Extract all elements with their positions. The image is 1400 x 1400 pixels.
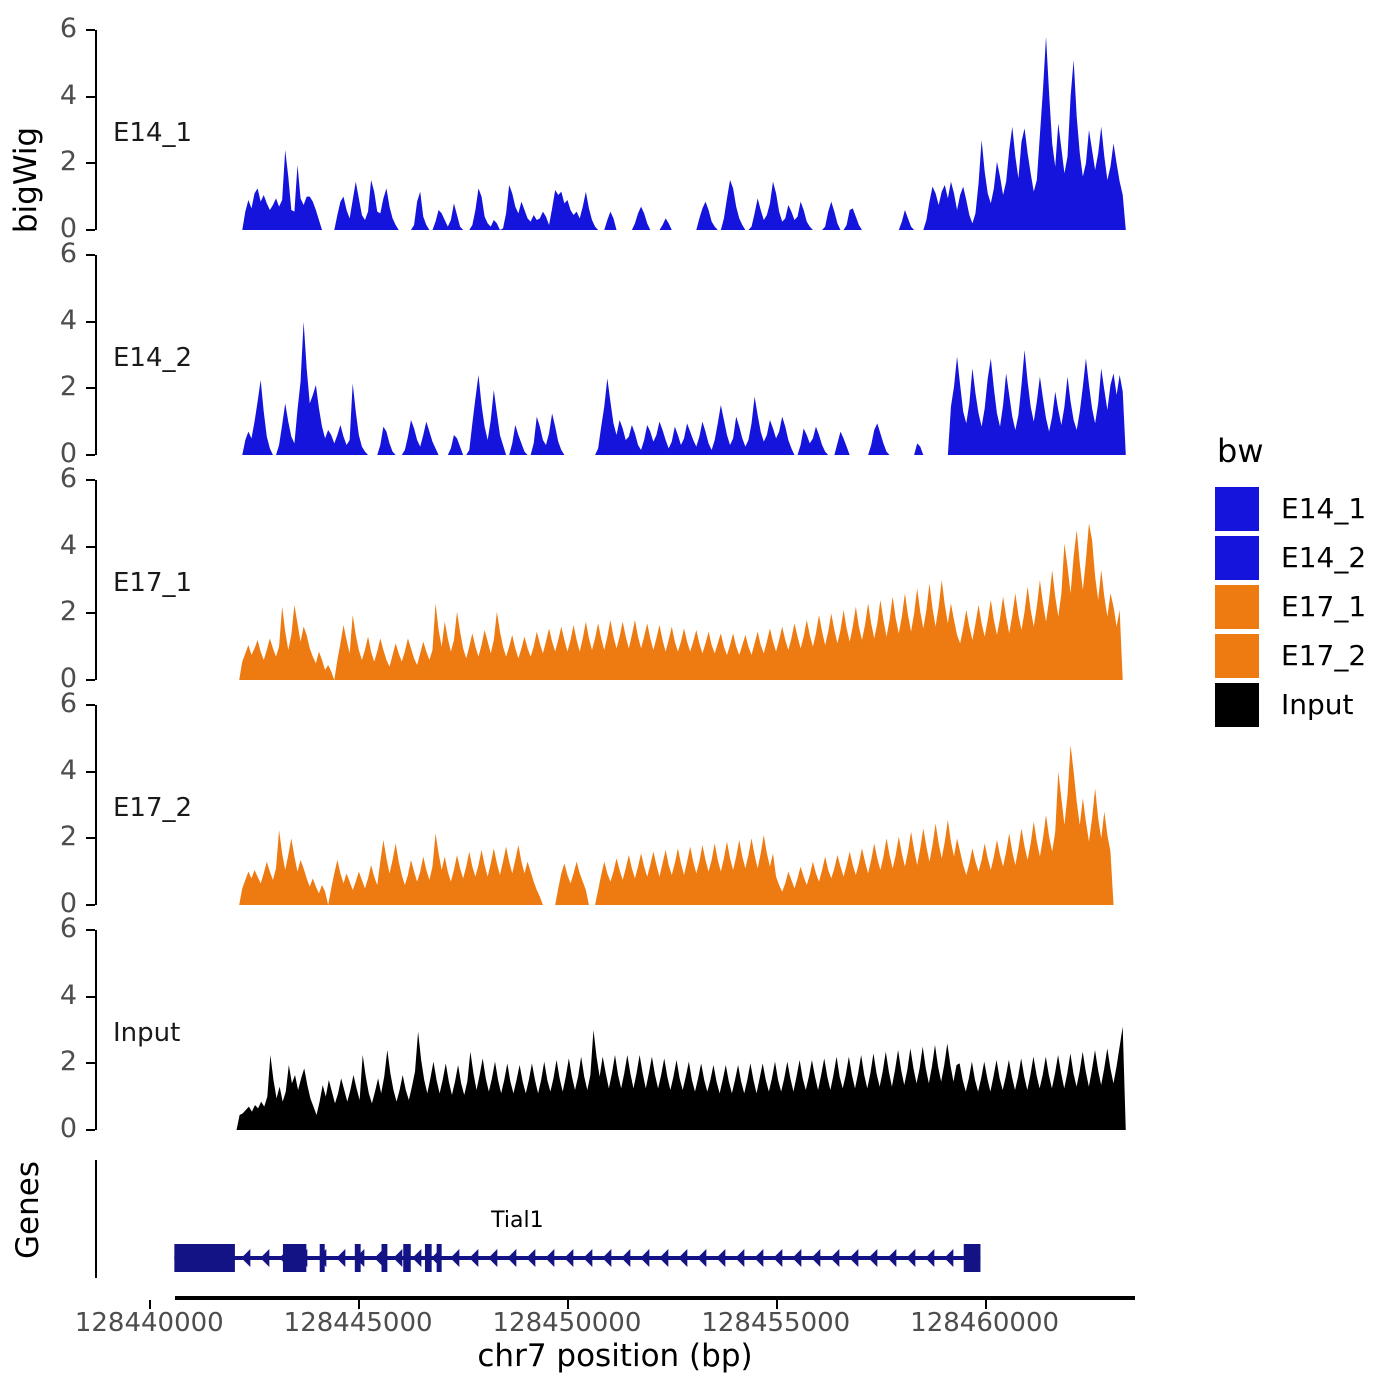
x-axis-tick-label: 128455000	[676, 1308, 876, 1338]
y-axis-tick	[86, 1129, 95, 1131]
y-axis-tick	[86, 704, 95, 706]
y-axis-tick-label: 4	[17, 757, 77, 784]
y-axis-tick-label: 6	[17, 240, 77, 267]
y-axis-line	[95, 480, 97, 680]
legend-key-label: E14_1	[1281, 492, 1366, 525]
y-axis-tick-label: 6	[17, 465, 77, 492]
y-axis-tick	[86, 771, 95, 773]
y-axis-tick-label: 2	[17, 1048, 77, 1075]
y-axis-tick-label: 2	[17, 373, 77, 400]
y-axis-tick	[86, 479, 95, 481]
coverage-area-input	[95, 930, 1135, 1130]
legend-key-swatch	[1215, 585, 1259, 629]
x-axis-tick-label: 128450000	[467, 1308, 667, 1338]
y-axis-tick-label: 4	[17, 532, 77, 559]
legend-key-label: E17_2	[1281, 639, 1366, 672]
coverage-area-e17_2	[95, 705, 1135, 905]
y-axis-tick-label: 2	[17, 148, 77, 175]
legend-key-swatch	[1215, 487, 1259, 531]
coverage-area-e14_2	[95, 255, 1135, 455]
y-axis-tick	[86, 904, 95, 906]
legend-key-label: Input	[1281, 688, 1354, 721]
track-label-e17_2: E17_2	[113, 793, 192, 823]
y-axis-tick-label: 4	[17, 82, 77, 109]
track-label-input: Input	[113, 1018, 180, 1048]
legend-item-input[interactable]: Input	[1215, 680, 1366, 729]
genes-axis-title: Genes	[10, 1130, 46, 1290]
coverage-area-e17_1	[95, 480, 1135, 680]
legend-item-e17_2[interactable]: E17_2	[1215, 631, 1366, 680]
legend-key-swatch	[1215, 536, 1259, 580]
y-axis-tick	[86, 929, 95, 931]
y-axis-tick-label: 6	[17, 915, 77, 942]
y-axis-tick-label: 0	[17, 1115, 77, 1142]
y-axis-tick	[86, 321, 95, 323]
track-panel-e14_2: 0246E14_2	[95, 255, 1135, 455]
track-label-e17_1: E17_1	[113, 568, 192, 598]
y-axis-tick	[86, 96, 95, 98]
y-axis-tick	[86, 837, 95, 839]
y-axis-tick	[86, 229, 95, 231]
y-axis-title: bigWig	[8, 30, 44, 330]
y-axis-tick-label: 2	[17, 823, 77, 850]
y-axis-tick-label: 6	[17, 15, 77, 42]
legend-item-e14_2[interactable]: E14_2	[1215, 533, 1366, 582]
legend-title: bw	[1217, 432, 1366, 470]
x-axis-line	[175, 1296, 1135, 1300]
track-label-e14_1: E14_1	[113, 118, 192, 148]
y-axis-tick-label: 4	[17, 307, 77, 334]
y-axis-tick-label: 4	[17, 982, 77, 1009]
y-axis-tick-label: 2	[17, 598, 77, 625]
y-axis-tick	[86, 546, 95, 548]
legend-key-swatch	[1215, 683, 1259, 727]
gene-annotation-panel: Tial1	[95, 1160, 1135, 1295]
legend-items: E14_1E14_2E17_1E17_2Input	[1215, 484, 1366, 729]
genome-browser-figure: bigWig Genes chr7 position (bp) 0246E14_…	[0, 0, 1400, 1400]
track-panel-input: 0246Input	[95, 930, 1135, 1130]
y-axis-line	[95, 255, 97, 455]
track-panel-e17_2: 0246E17_2	[95, 705, 1135, 905]
y-axis-tick	[86, 679, 95, 681]
y-axis-tick	[86, 387, 95, 389]
legend-key-swatch	[1215, 634, 1259, 678]
x-axis-tick-label: 128445000	[258, 1308, 458, 1338]
y-axis-tick	[86, 162, 95, 164]
legend-key-label: E14_2	[1281, 541, 1366, 574]
track-panel-e17_1: 0246E17_1	[95, 480, 1135, 680]
y-axis-line	[95, 705, 97, 905]
legend-key-label: E17_1	[1281, 590, 1366, 623]
x-axis-tick-label: 128460000	[885, 1308, 1085, 1338]
x-axis-title: chr7 position (bp)	[95, 1338, 1135, 1374]
y-axis-tick	[86, 612, 95, 614]
track-panel-e14_1: 0246E14_1	[95, 30, 1135, 230]
y-axis-tick-label: 6	[17, 690, 77, 717]
coverage-area-e14_1	[95, 30, 1135, 230]
legend-item-e17_1[interactable]: E17_1	[1215, 582, 1366, 631]
track-label-e14_2: E14_2	[113, 343, 192, 373]
gene-model-glyph[interactable]	[95, 1160, 1135, 1295]
y-axis-tick	[86, 454, 95, 456]
y-axis-line	[95, 930, 97, 1130]
y-axis-tick	[86, 996, 95, 998]
legend: bw E14_1E14_2E17_1E17_2Input	[1215, 432, 1366, 729]
x-axis-tick-label: 128440000	[49, 1308, 249, 1338]
legend-item-e14_1[interactable]: E14_1	[1215, 484, 1366, 533]
y-axis-tick	[86, 1062, 95, 1064]
y-axis-tick	[86, 254, 95, 256]
y-axis-tick	[86, 29, 95, 31]
y-axis-line	[95, 30, 97, 230]
